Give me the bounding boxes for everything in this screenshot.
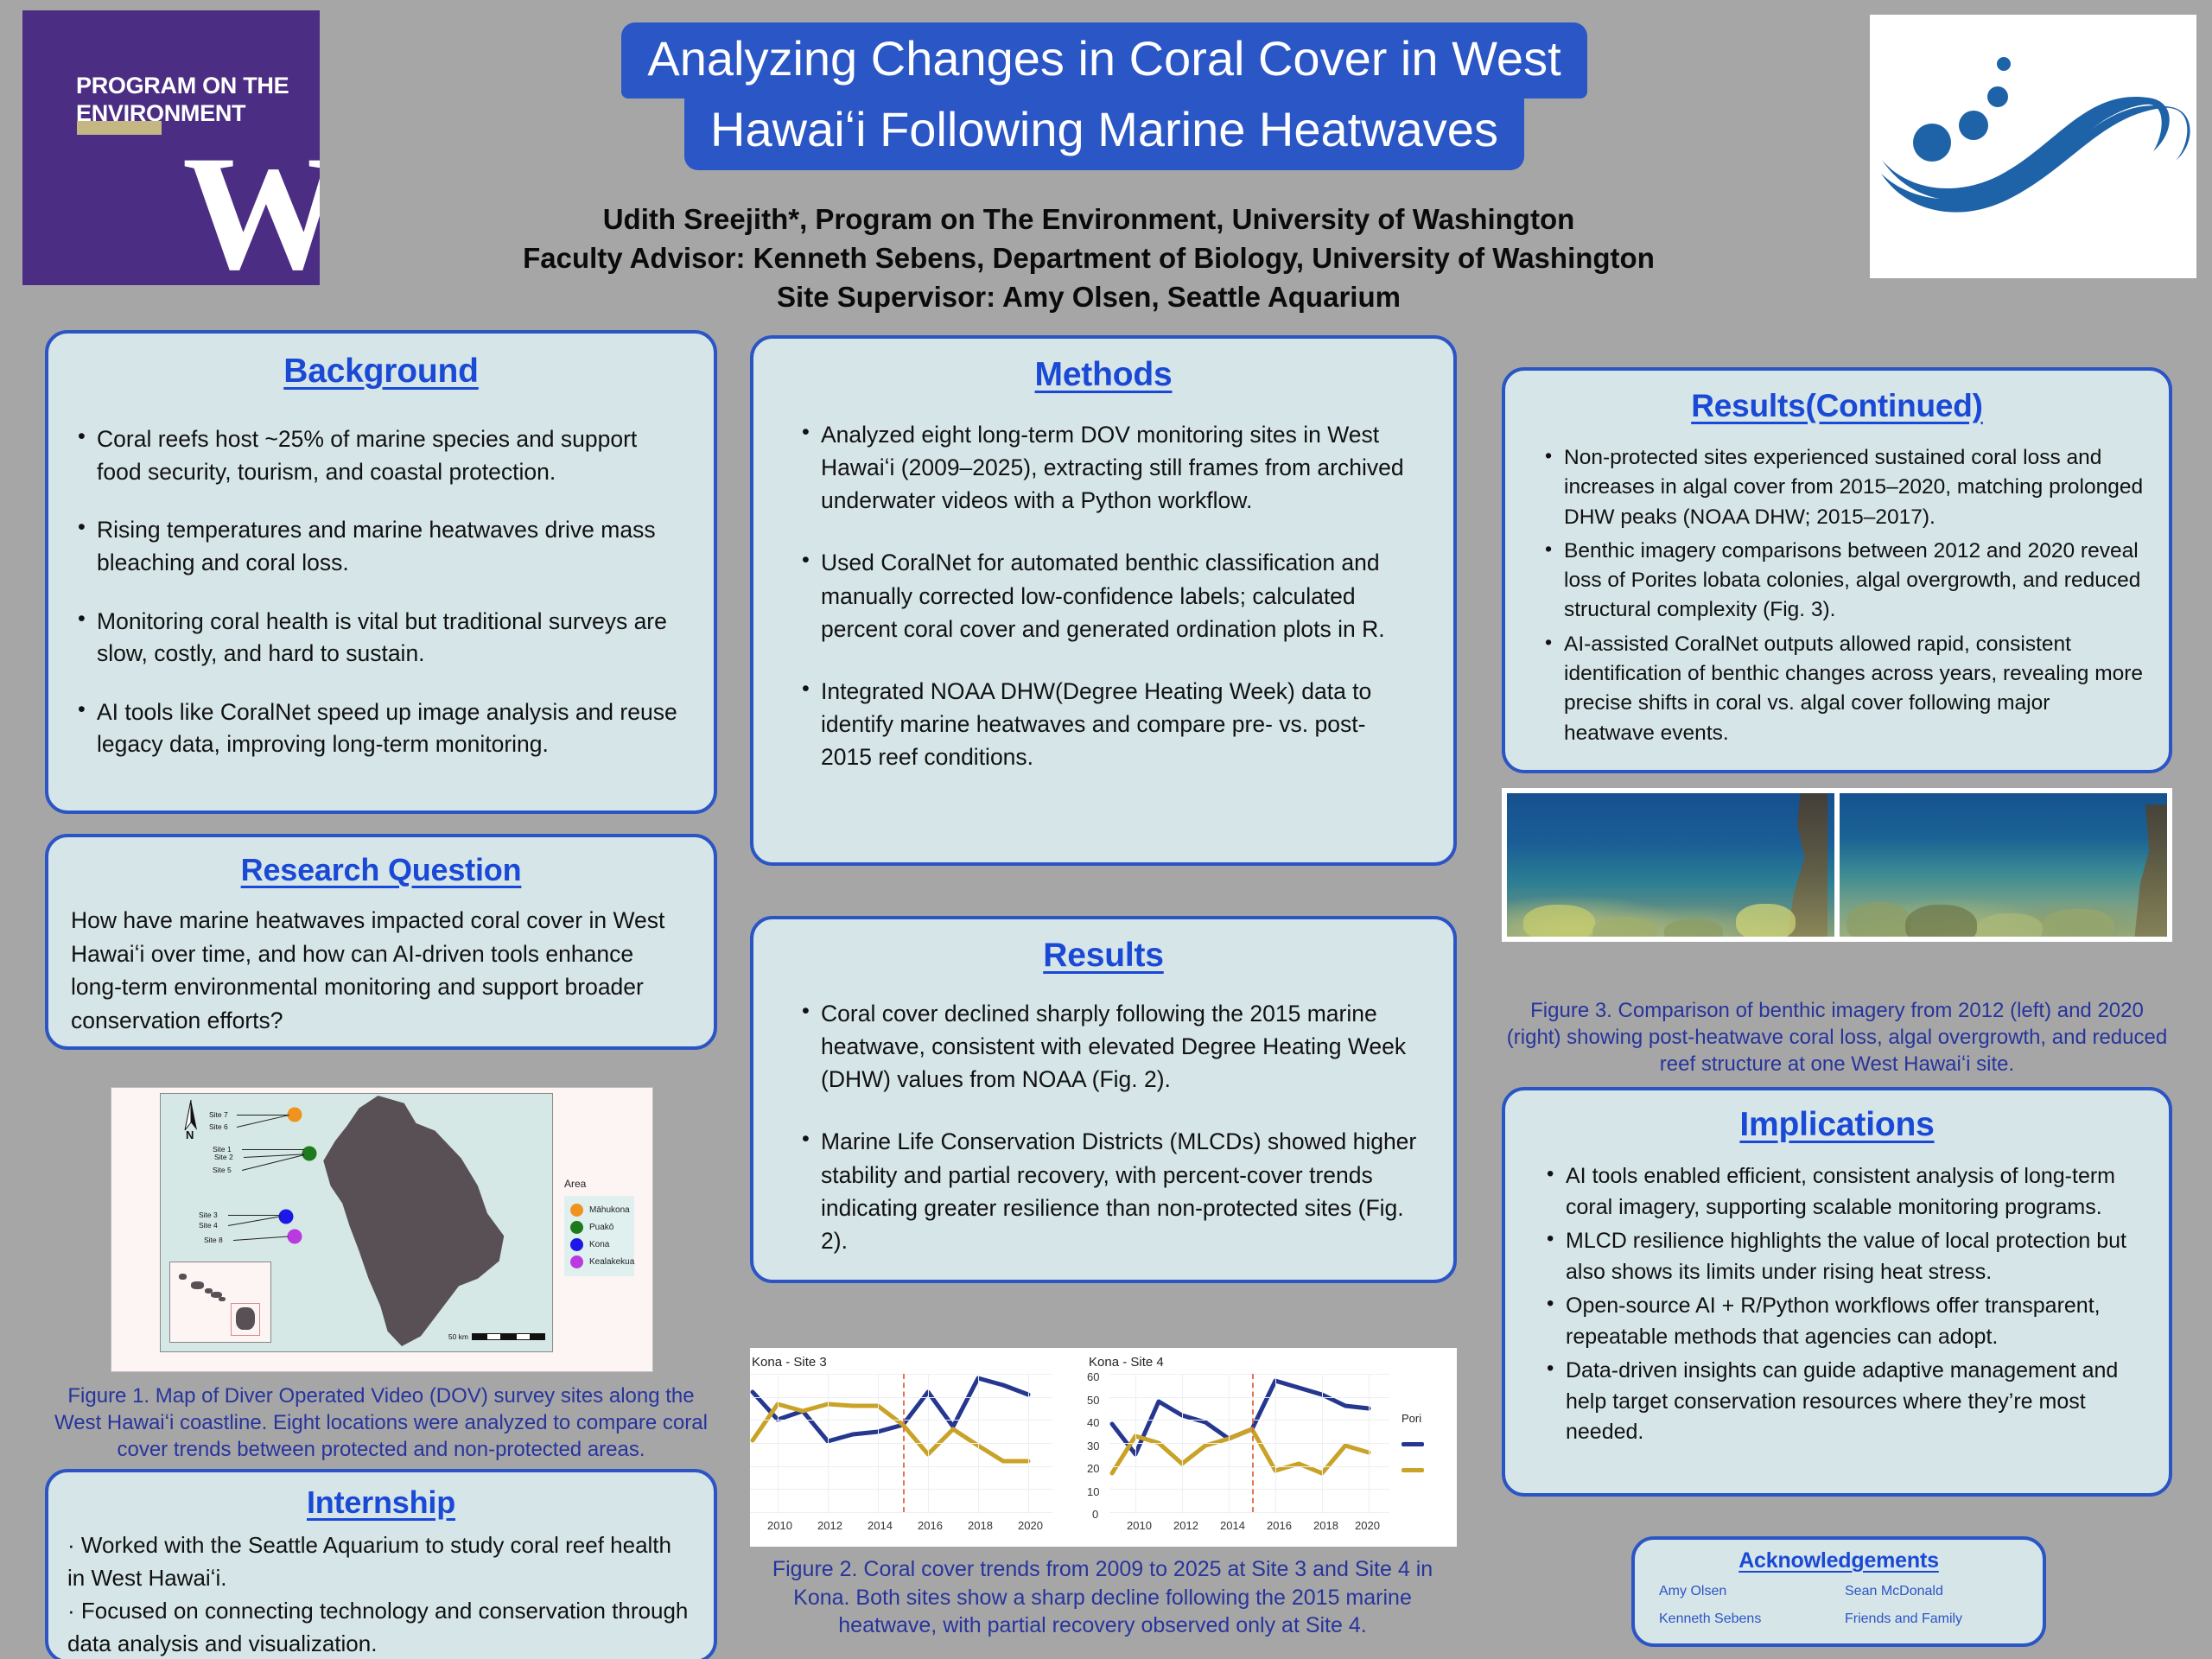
map-legend: Area Māhukona Puakō Kona Kealakekua [564,1178,651,1276]
map-legend-row: Kona [564,1238,634,1251]
y-tick-label: 30 [1087,1440,1099,1452]
uw-w-glyph: W [182,131,320,285]
results-continued-heading: Results(Continued) [1505,388,2169,424]
map-inset-hawaiian-islands [169,1262,271,1343]
list-item: Used CoralNet for automated benthic clas… [798,546,1415,645]
methods-heading: Methods [753,356,1453,394]
list-item: Benthic imagery comparisons between 2012… [1541,537,2145,626]
legend-label: Māhukona [589,1205,630,1215]
list-item: Coral cover declined sharply following t… [798,997,1419,1096]
poster-title: Analyzing Changes in Coral Cover in West… [499,22,1709,170]
author-line-2: Faculty Advisor: Kenneth Sebens, Departm… [372,239,1806,278]
methods-bullet-list: Analyzed eight long-term DOV monitoring … [798,418,1415,773]
internship-line: · Focused on connecting technology and c… [67,1595,691,1659]
map-site-label: Site 5 [213,1166,232,1174]
list-item: Marine Life Conservation Districts (MLCD… [798,1125,1419,1257]
heatwave-2015-marker [903,1374,905,1512]
y-tick-label: 50 [1087,1394,1099,1407]
legend-swatch-coral [1402,1442,1424,1446]
panel-methods: Methods Analyzed eight long-term DOV mon… [750,335,1457,866]
benthic-photo-2020 [1840,793,2167,937]
hawaii-big-island-shape [269,1096,506,1346]
figure-1-map: N 20.2°N 20.0°N 19.8°N 19.6°N 19.4°N 19.… [111,1087,653,1372]
list-item: Integrated NOAA DHW(Degree Heating Week)… [798,675,1415,773]
uw-logo-gold-bar [77,121,162,135]
map-site-label: Site 7 [209,1110,228,1119]
uw-logo-text: PROGRAM ON THE ENVIRONMENT [76,73,289,128]
list-item: Rising temperatures and marine heatwaves… [74,514,683,579]
chart-panel-title: Kona - Site 3 [752,1355,827,1370]
chart-panel-title: Kona - Site 4 [1089,1355,1164,1370]
x-tick-label: 2012 [1173,1519,1198,1532]
legend-swatch-puako [570,1221,583,1234]
seattle-aquarium-logo [1870,15,2196,278]
map-leader-line [228,1216,281,1226]
chart-panel-site-4: Kona - Site 4 60 50 40 30 20 10 0 [1087,1348,1398,1547]
map-legend-row: Kealakekua [564,1255,634,1268]
chart-legend: Pori [1402,1412,1462,1477]
panel-acknowledgements: Acknowledgements Amy Olsen Sean McDonald… [1631,1536,2046,1647]
plot-area-site-3 [750,1374,1052,1512]
title-line-2: Hawaiʻi Following Marine Heatwaves [684,93,1524,169]
panel-research-question: Research Question How have marine heatwa… [45,834,717,1050]
chart-legend-title: Pori [1402,1412,1462,1425]
legend-swatch-mahukona [570,1204,583,1217]
figure-2-caption: Figure 2. Coral cover trends from 2009 t… [745,1555,1460,1640]
legend-swatch-algae [1402,1468,1424,1472]
acknowledgements-names: Amy Olsen Sean McDonald Kenneth Sebens F… [1659,1584,2022,1627]
panel-results-continued: Results(Continued) Non-protected sites e… [1502,367,2172,773]
acknowledgement-name: Sean McDonald [1845,1584,2022,1599]
list-item: MLCD resilience highlights the value of … [1543,1226,2146,1287]
panel-background: Background Coral reefs host ~25% of mari… [45,330,717,814]
research-question-body: How have marine heatwaves impacted coral… [71,904,679,1038]
heatwave-2015-marker [1252,1374,1254,1512]
map-leader-line [237,1115,289,1128]
x-tick-label: 2012 [817,1519,842,1532]
chart-legend-row-coral [1402,1435,1462,1451]
title-line-1: Analyzing Changes in Coral Cover in West [621,22,1586,99]
list-item: AI-assisted CoralNet outputs allowed rap… [1541,630,2145,748]
results-heading: Results [753,937,1453,975]
internship-line: · Worked with the Seattle Aquarium to st… [67,1529,691,1595]
acknowledgement-name: Friends and Family [1845,1611,2022,1627]
x-tick-label: 2020 [1018,1519,1043,1532]
panel-internship: Internship · Worked with the Seattle Aqu… [45,1469,717,1659]
map-leader-line [233,1236,289,1242]
map-legend-row: Māhukona [564,1204,634,1217]
map-legend-row: Puakō [564,1221,634,1234]
figure-3-benthic-imagery [1502,788,2172,942]
list-item: AI tools like CoralNet speed up image an… [74,696,683,761]
acknowledgement-name: Kenneth Sebens [1659,1611,1836,1627]
map-site-label: Site 2 [214,1153,233,1161]
map-leader-line [242,1149,304,1150]
author-block: Udith Sreejith*, Program on The Environm… [372,200,1806,317]
x-tick-label: 2016 [1267,1519,1292,1532]
map-site-marker-kealakekua [288,1230,302,1244]
benthic-photo-2012 [1507,793,1834,937]
implications-bullet-list: AI tools enabled efficient, consistent a… [1543,1161,2146,1448]
figure-2-chart: Kona - Site 3 [750,1348,1457,1547]
results-continued-bullet-list: Non-protected sites experienced sustaine… [1541,443,2145,748]
legend-label: Kealakekua [589,1257,634,1267]
y-tick-label: 40 [1087,1416,1099,1429]
x-tick-label: 2016 [918,1519,943,1532]
map-plot-area: N 20.2°N 20.0°N 19.8°N 19.6°N 19.4°N 19.… [160,1093,553,1352]
list-item: Non-protected sites experienced sustaine… [1541,443,2145,532]
uw-program-on-the-environment-logo: PROGRAM ON THE ENVIRONMENT W [22,10,320,285]
author-line-3: Site Supervisor: Amy Olsen, Seattle Aqua… [372,278,1806,317]
internship-body: · Worked with the Seattle Aquarium to st… [67,1529,691,1659]
map-site-label: Site 8 [204,1236,223,1244]
panel-implications: Implications AI tools enabled efficient,… [1502,1087,2172,1497]
chart-panel-site-3: Kona - Site 3 [750,1348,1059,1547]
y-tick-label: 0 [1092,1508,1098,1521]
map-scale-bar: 50 km [448,1332,545,1341]
x-tick-label: 2014 [1220,1519,1245,1532]
poster-canvas: PROGRAM ON THE ENVIRONMENT W Analyzing C… [0,0,2212,1659]
compass-north-label: N [186,1128,194,1141]
map-scale-label: 50 km [448,1332,468,1341]
map-site-marker-puako [302,1147,317,1161]
y-tick-label: 10 [1087,1485,1099,1498]
research-question-heading: Research Question [48,852,714,888]
map-site-label: Site 4 [199,1221,218,1230]
x-tick-label: 2018 [1313,1519,1338,1532]
author-line-1: Udith Sreejith*, Program on The Environm… [372,200,1806,239]
list-item: Data-driven insights can guide adaptive … [1543,1356,2146,1448]
map-leader-line [228,1215,280,1216]
figure-3-caption: Figure 3. Comparison of benthic imagery … [1502,997,2172,1078]
reef-rock-formation [2131,804,2167,937]
map-site-label: Site 3 [199,1211,218,1219]
compass-rose-icon: N [176,1099,206,1144]
uw-logo-line1: PROGRAM ON THE [76,73,289,99]
map-legend-title: Area [564,1178,651,1190]
map-site-label: Site 6 [209,1122,228,1131]
list-item: Monitoring coral health is vital but tra… [74,606,683,671]
acknowledgements-heading: Acknowledgements [1635,1548,2043,1573]
list-item: AI tools enabled efficient, consistent a… [1543,1161,2146,1223]
results-bullet-list: Coral cover declined sharply following t… [798,997,1419,1257]
background-heading: Background [48,353,714,391]
legend-label: Kona [589,1240,609,1249]
list-item: Open-source AI + R/Python workflows offe… [1543,1291,2146,1352]
y-tick-label: 60 [1087,1370,1099,1383]
list-item: Analyzed eight long-term DOV monitoring … [798,418,1415,517]
x-tick-label: 2018 [968,1519,993,1532]
figure-1-caption: Figure 1. Map of Diver Operated Video (D… [45,1382,717,1464]
legend-label: Puakō [589,1223,613,1232]
implications-heading: Implications [1505,1106,2169,1144]
map-site-marker-mahukona [288,1108,302,1122]
legend-swatch-kona [570,1238,583,1251]
x-tick-label: 2010 [1127,1519,1152,1532]
background-bullet-list: Coral reefs host ~25% of marine species … [74,423,683,761]
wave-bubbles-icon [1870,15,2196,278]
internship-heading: Internship [48,1484,714,1521]
list-item: Coral reefs host ~25% of marine species … [74,423,683,488]
plot-area-site-4 [1109,1374,1389,1512]
y-tick-label: 20 [1087,1462,1099,1475]
chart-legend-row-algae [1402,1461,1462,1477]
x-tick-label: 2014 [868,1519,893,1532]
x-tick-label: 2010 [767,1519,792,1532]
legend-swatch-kealakekua [570,1255,583,1268]
acknowledgement-name: Amy Olsen [1659,1584,1836,1599]
x-tick-label: 2020 [1355,1519,1380,1532]
panel-results: Results Coral cover declined sharply fol… [750,916,1457,1283]
